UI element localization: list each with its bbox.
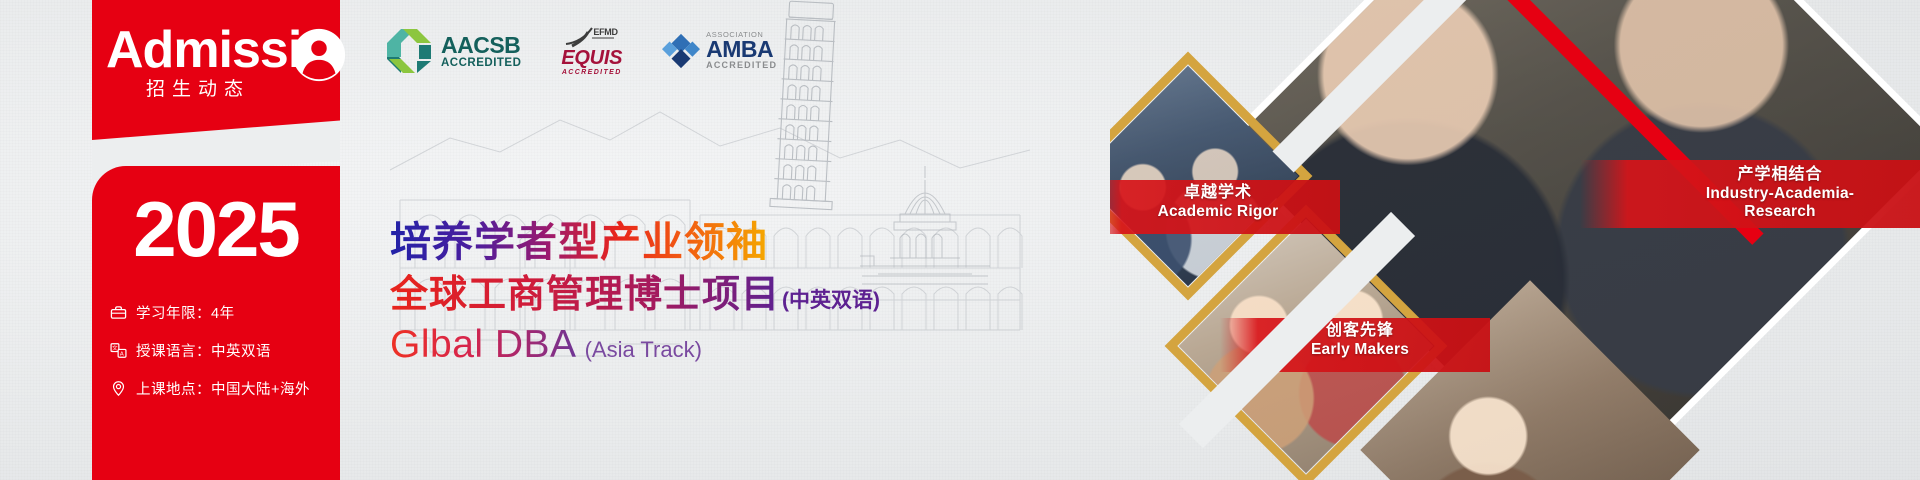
badge-industry-en: Industry-Academia- [1650, 185, 1910, 203]
briefcase-icon [110, 304, 127, 321]
svg-text:文: 文 [112, 344, 118, 352]
headline-program-language: (中英双语) [782, 284, 880, 318]
admission-chinese-label: 招生动态 [146, 74, 250, 101]
admission-banner: 2025 学习年限：4年 文 A [0, 0, 1920, 480]
badge-makers-en: Early Makers [1240, 341, 1480, 359]
info-row-language: 文 A 授课语言：中英双语 [110, 340, 340, 361]
headline-block: 培养学者型产业领袖 全球工商管理博士项目 (中英双语) Glbal DBA (A… [390, 218, 880, 367]
aacsb-sub: ACCREDITED [441, 57, 521, 69]
svg-text:A: A [120, 351, 124, 357]
aacsb-logo-icon [385, 27, 433, 75]
efmd-tag: EFMD [593, 28, 617, 37]
admission-logo: Admissi 招生动态 [106, 22, 342, 117]
badge-industry-academia: 产学相结合 Industry-Academia- Research [1650, 166, 1910, 221]
left-red-panel: 2025 学习年限：4年 文 A [92, 0, 340, 480]
equis-accreditation: EFMD EQUIS ACCREDITED [561, 26, 622, 76]
accreditation-logos: AACSB ACCREDITED EFMD EQUIS ACCREDITED [385, 22, 777, 80]
amba-accreditation: ASSOCIATION AMBA ACCREDITED [662, 31, 777, 70]
info-text-location: 上课地点：中国大陆+海外 [136, 378, 310, 399]
headline-track-label: (Asia Track) [585, 337, 702, 367]
admission-wordmark: Admissi [106, 24, 301, 76]
red-body-block: 2025 学习年限：4年 文 A [92, 166, 340, 480]
headline-program-name-en: Glbal DBA [390, 324, 577, 367]
info-text-duration: 学习年限：4年 [136, 302, 235, 323]
program-info-list: 学习年限：4年 文 A 授课语言：中英双语 [110, 302, 340, 416]
amba-name: AMBA [706, 37, 777, 61]
headline-tagline: 培养学者型产业领袖 [390, 218, 768, 266]
badge-academic-en: Academic Rigor [1110, 203, 1336, 221]
equis-sub: ACCREDITED [561, 69, 622, 76]
aacsb-accreditation: AACSB ACCREDITED [385, 27, 521, 75]
language-icon: 文 A [110, 342, 127, 359]
equis-name: EQUIS [561, 48, 622, 69]
amba-sub: ACCREDITED [706, 61, 777, 70]
person-avatar-icon [290, 26, 348, 84]
badge-industry-cn: 产学相结合 [1650, 166, 1910, 185]
aacsb-name: AACSB [441, 33, 521, 57]
badge-early-makers: 创客先锋 Early Makers [1240, 322, 1480, 359]
photo-collage: 产学相结合 Industry-Academia- Research 卓越学术 A… [1110, 0, 1920, 480]
badge-industry-en2: Research [1650, 203, 1910, 221]
badge-makers-cn: 创客先锋 [1240, 322, 1480, 341]
info-row-location: 上课地点：中国大陆+海外 [110, 378, 340, 399]
badge-academic-rigor: 卓越学术 Academic Rigor [1110, 184, 1336, 221]
info-row-duration: 学习年限：4年 [110, 302, 340, 323]
info-text-language: 授课语言：中英双语 [136, 340, 271, 361]
badge-academic-cn: 卓越学术 [1110, 184, 1336, 203]
year-label: 2025 [92, 190, 340, 268]
headline-program-name: 全球工商管理博士项目 [390, 274, 780, 318]
amba-logo-icon [662, 32, 700, 70]
location-pin-icon [110, 380, 127, 397]
